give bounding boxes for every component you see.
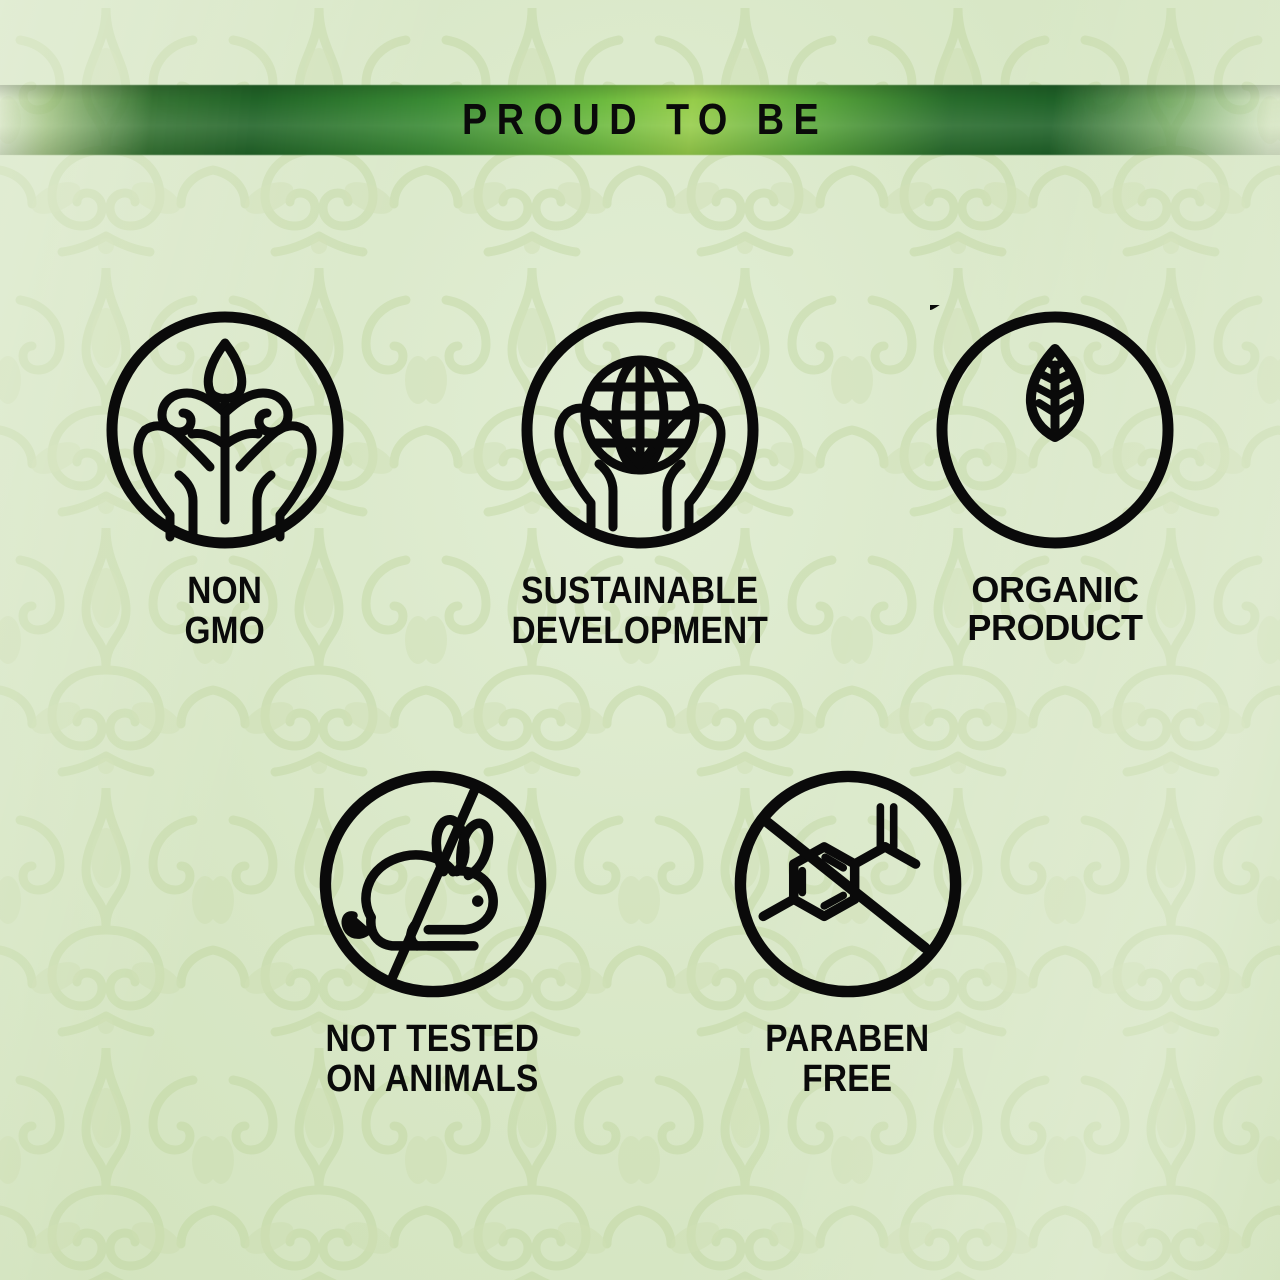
badge-non-gmo[interactable]: NON GMO (18, 305, 433, 652)
badge-sustainable-development[interactable]: SUSTAINABLE DEVELOPMENT (433, 305, 848, 652)
badge-label: PARABEN FREE (765, 1019, 929, 1100)
badge-row-bottom: NOT TESTED ON ANIMALS (0, 765, 1280, 1100)
badge-label-line2: DEVELOPMENT (512, 611, 768, 651)
no-paraben-molecule-icon (729, 765, 967, 1003)
badge-label-line2: GMO (185, 611, 265, 651)
badge-paraben-free[interactable]: PARABEN FREE (640, 765, 1055, 1100)
badge-label-line2: FREE (765, 1059, 929, 1099)
trefoil-leaves-icon (930, 305, 1180, 555)
badge-row-top: NON GMO (0, 305, 1280, 652)
proud-to-be-badge-poster: PROUD TO BE (0, 0, 1280, 1280)
badge-label-line1: NON (185, 571, 265, 611)
badge-label-line2: PRODUCT (967, 609, 1142, 647)
badge-label-line1: ORGANIC (967, 571, 1142, 609)
badge-label-line1: PARABEN (765, 1019, 929, 1059)
page-title: PROUD TO BE (452, 98, 828, 142)
badge-organic-product[interactable]: ORGANIC PRODUCT (848, 305, 1263, 652)
globe-in-hands-icon (515, 305, 765, 555)
badge-label: NOT TESTED ON ANIMALS (326, 1019, 540, 1100)
badge-label: ORGANIC PRODUCT (967, 571, 1142, 647)
badge-label-line1: SUSTAINABLE (512, 571, 768, 611)
badge-not-tested-on-animals[interactable]: NOT TESTED ON ANIMALS (225, 765, 640, 1100)
header-banner: PROUD TO BE (0, 85, 1280, 155)
badge-label-line1: NOT TESTED (326, 1019, 540, 1059)
no-rabbit-testing-icon (314, 765, 552, 1003)
badge-label: NON GMO (185, 571, 265, 652)
badge-label: SUSTAINABLE DEVELOPMENT (512, 571, 768, 652)
plant-in-hands-icon (100, 305, 350, 555)
badge-label-line2: ON ANIMALS (326, 1059, 540, 1099)
